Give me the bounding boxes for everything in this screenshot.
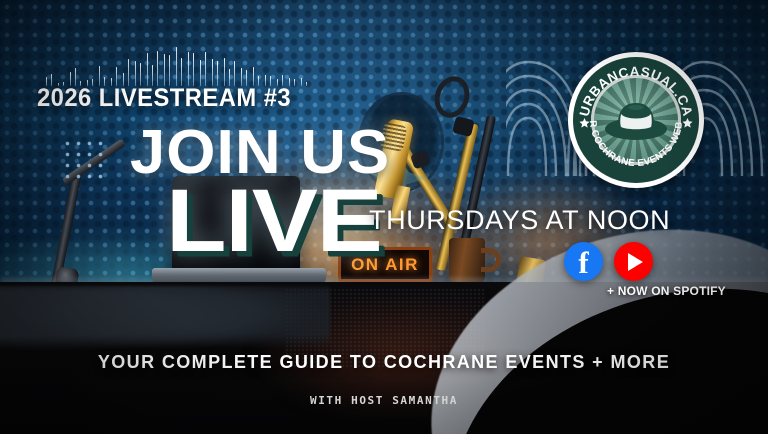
youtube-play-glyph bbox=[628, 253, 643, 271]
social-icon-row: f bbox=[564, 242, 653, 281]
tagline-text: YOUR COMPLETE GUIDE TO COCHRANE EVENTS +… bbox=[0, 352, 768, 373]
youtube-icon[interactable] bbox=[614, 242, 653, 281]
spotify-note: + NOW ON SPOTIFY bbox=[607, 284, 726, 298]
livestream-promo-banner: ON AIR bbox=[0, 0, 768, 434]
urbancasual-logo-badge[interactable]: URBANCASUAL.CA YOUR COCHRANE EVENTS WEBS… bbox=[568, 52, 704, 188]
dot-grid-graphic bbox=[62, 138, 106, 182]
facebook-glyph: f bbox=[578, 247, 588, 278]
episode-label: 2026 LIVESTREAM #3 bbox=[37, 84, 291, 113]
facebook-icon[interactable]: f bbox=[564, 242, 603, 281]
foreground-chairs bbox=[0, 286, 330, 356]
cowboy-hat-icon bbox=[604, 98, 668, 142]
schedule-text: THURSDAYS AT NOON bbox=[369, 205, 670, 236]
host-credit-text: WITH HOST SAMANTHA bbox=[0, 394, 768, 407]
audio-waveform-graphic bbox=[44, 46, 306, 86]
headline-live: LIVE bbox=[166, 180, 382, 262]
